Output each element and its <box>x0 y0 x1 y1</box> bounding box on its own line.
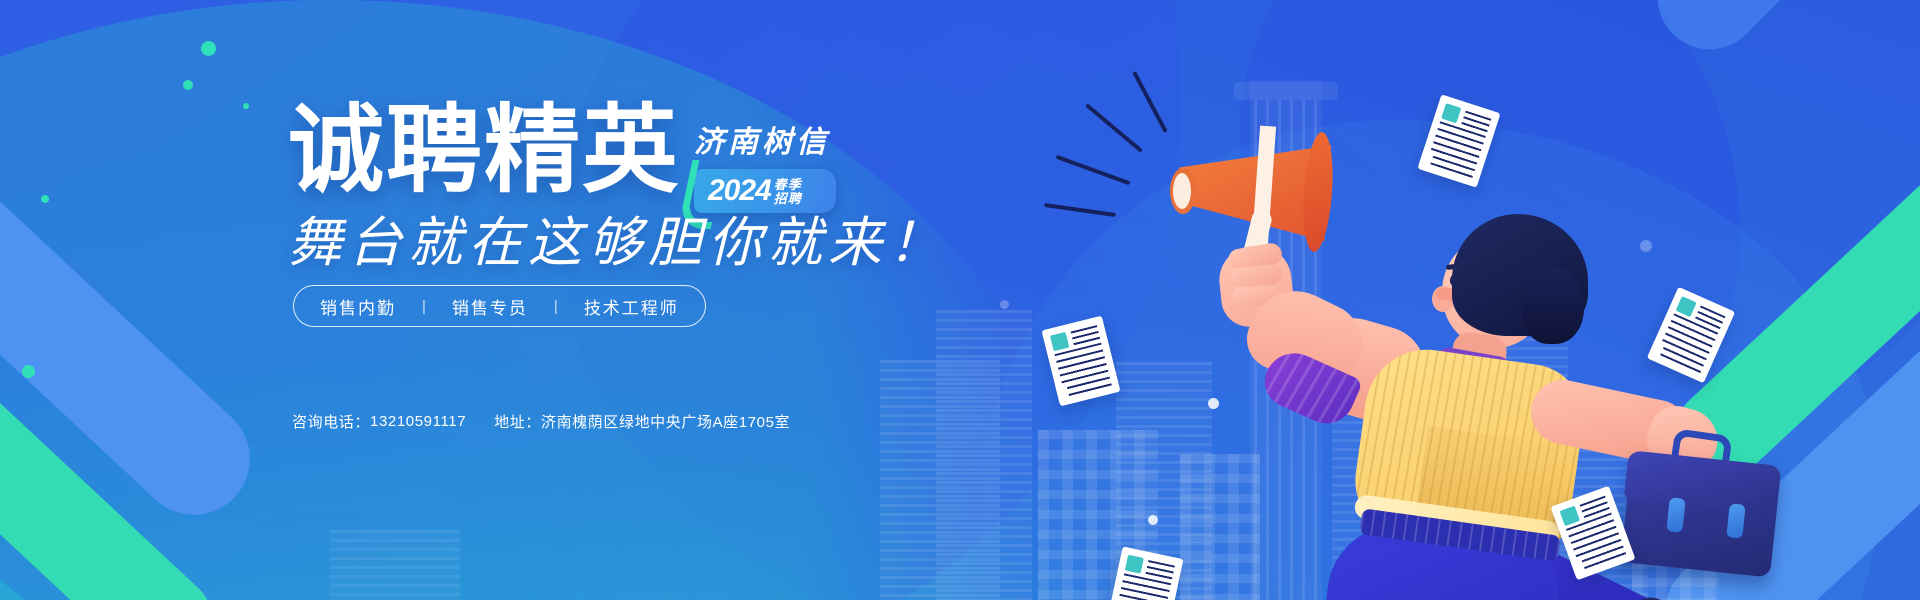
job-separator-1: | <box>422 298 426 315</box>
resume-header-lines <box>1145 560 1175 580</box>
job-list-pill[interactable]: 销售内勤 | 销售专员 | 技术工程师 <box>293 285 706 327</box>
badge-subtext-line1: 春季 <box>774 178 802 192</box>
resume-photo-box <box>1441 103 1461 123</box>
hair-back-tuft <box>1522 266 1584 344</box>
headline-row: 诚聘精英 济南树信 2024 春季 招聘 <box>288 103 836 213</box>
text-content: 诚聘精英 济南树信 2024 春季 招聘 舞台就在这够胆你就来！ 销售内勤 | … <box>0 0 1100 600</box>
speed-line-1 <box>1085 103 1143 152</box>
contact-info: 咨询电话： 13210591117 地址： 济南槐荫区绿地中央广场A座1705室 <box>292 411 790 432</box>
resume-photo-box <box>1560 506 1581 527</box>
resume-photo-box <box>1125 555 1144 574</box>
phone-value: 13210591117 <box>370 413 466 430</box>
subtitle: 舞台就在这够胆你就来！ <box>288 198 948 277</box>
address-value: 济南槐荫区绿地中央广场A座1705室 <box>541 411 790 432</box>
resume-photo-box <box>1676 296 1697 317</box>
speed-line-2 <box>1132 71 1167 133</box>
nose <box>1436 288 1452 300</box>
address-label: 地址： <box>494 411 541 432</box>
job-item-3[interactable]: 技术工程师 <box>584 294 679 319</box>
resume-photo-box <box>1050 332 1069 351</box>
phone-label: 咨询电话： <box>292 411 370 432</box>
job-separator-2: | <box>554 298 558 315</box>
brand-name: 济南树信 <box>694 117 836 161</box>
recruitment-banner: 诚聘精英 济南树信 2024 春季 招聘 舞台就在这够胆你就来！ 销售内勤 | … <box>0 0 1920 600</box>
page-title: 诚聘精英 <box>288 103 680 199</box>
job-item-1[interactable]: 销售内勤 <box>320 294 396 319</box>
job-item-2[interactable]: 销售专员 <box>452 294 528 319</box>
megaphone-back-inner <box>1173 173 1191 209</box>
speed-line-3 <box>1056 155 1131 185</box>
